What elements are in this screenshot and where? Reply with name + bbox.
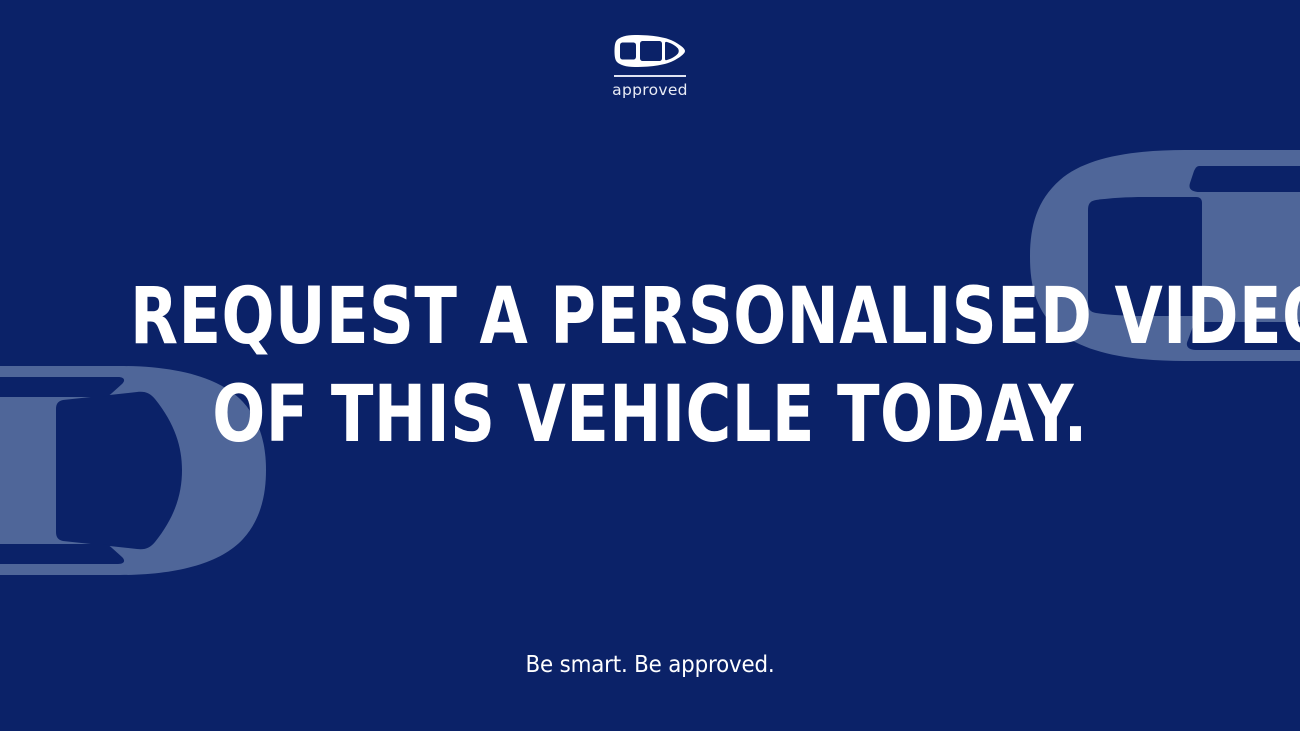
logo-wordmark: approved [612,82,688,99]
car-top-view-icon [614,34,686,68]
headline-line-1: REQUEST A PERSONALISED VIDEO [130,268,1170,366]
logo-divider [614,75,686,77]
brand-logo: approved [0,34,1300,99]
tagline: Be smart. Be approved. [46,652,1255,678]
headline-line-2: OF THIS VEHICLE TODAY. [130,366,1170,464]
headline: REQUEST A PERSONALISED VIDEO OF THIS VEH… [0,268,1300,464]
promo-banner: approved REQUEST A PERSONALISED VIDEO OF… [0,0,1300,731]
